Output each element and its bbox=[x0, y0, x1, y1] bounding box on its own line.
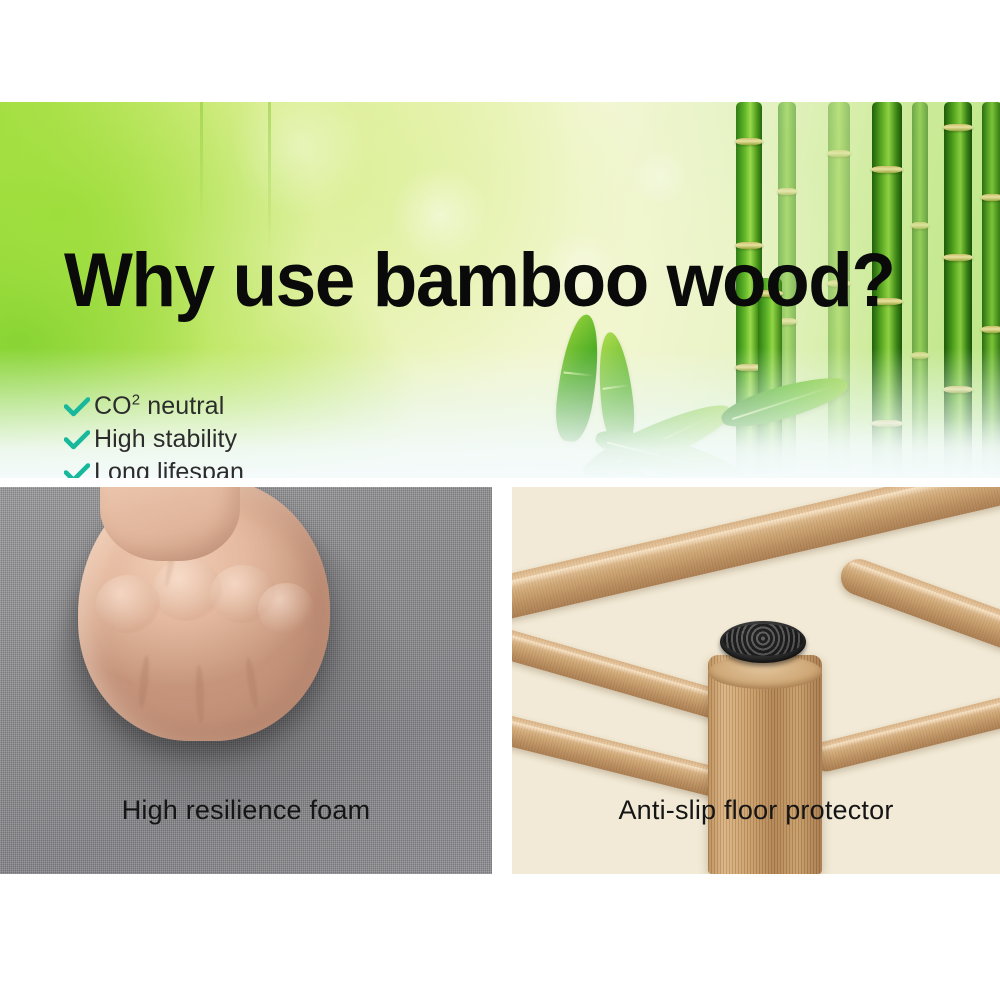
feature-item-long-lifespan: Long lifespan bbox=[64, 456, 448, 478]
why-bamboo-banner: Why use bamboo wood? CO2 neutral High st… bbox=[0, 102, 1000, 478]
background-streak bbox=[200, 102, 203, 222]
check-icon bbox=[64, 463, 94, 479]
feature-item-high-stability: High stability bbox=[64, 423, 448, 456]
anti-slip-pad bbox=[720, 621, 806, 663]
bamboo-leg bbox=[708, 655, 822, 874]
check-icon bbox=[64, 397, 94, 417]
feature-list: CO2 neutral High stability Long lifespan… bbox=[64, 390, 448, 478]
bamboo-rail-upper-right bbox=[836, 554, 1000, 666]
pad-texture bbox=[723, 624, 803, 656]
caption-anti-slip-floor-protector: Anti-slip floor protector bbox=[512, 795, 1000, 826]
page-title: Why use bamboo wood? bbox=[64, 240, 894, 322]
product-feature-image: Why use bamboo wood? CO2 neutral High st… bbox=[0, 0, 1000, 1000]
feature-label: CO2 neutral bbox=[94, 392, 224, 421]
feature-item-co2-neutral: CO2 neutral bbox=[64, 390, 448, 423]
feature-label: High stability bbox=[94, 425, 237, 454]
feature-label: Long lifespan bbox=[94, 458, 244, 478]
background-streak bbox=[268, 102, 271, 252]
caption-high-resilience-foam: High resilience foam bbox=[0, 795, 492, 826]
check-icon bbox=[64, 430, 94, 450]
bamboo-rail-lower-right bbox=[808, 687, 1000, 774]
